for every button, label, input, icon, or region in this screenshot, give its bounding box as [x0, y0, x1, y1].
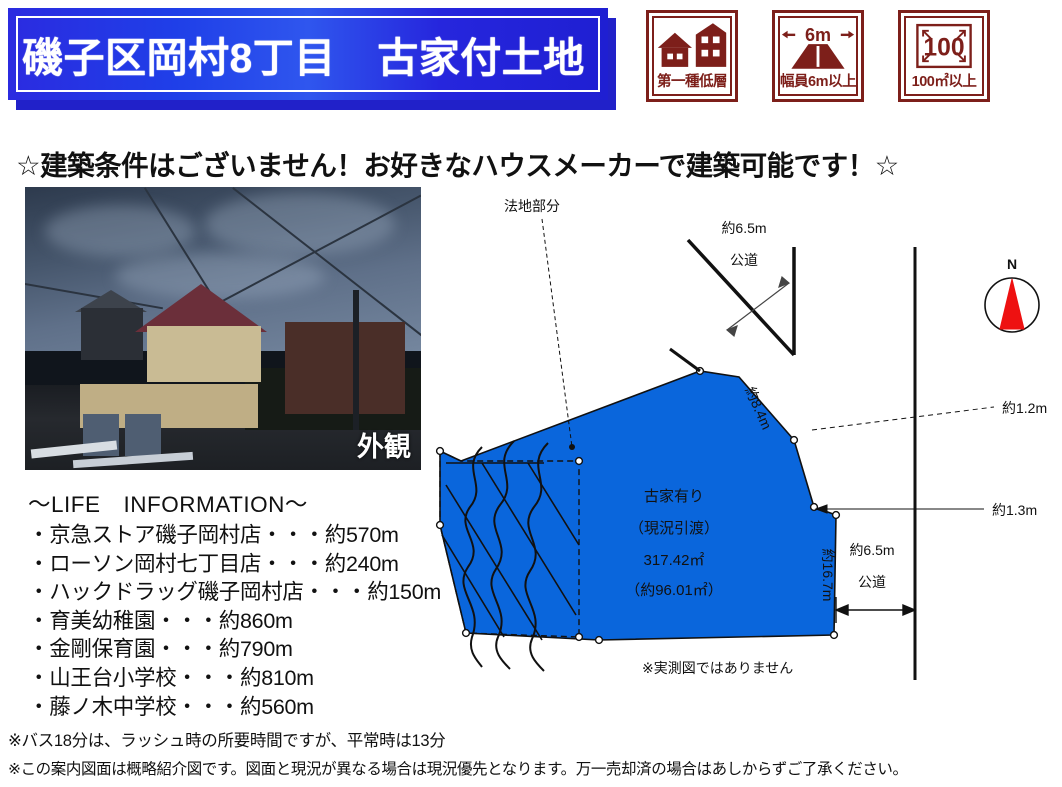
photo-building-right [285, 322, 405, 414]
area-frame-icon: 100 [906, 20, 982, 72]
footnote-disclaimer: ※この案内図面は概略紹介図です。図面と現況が異なる場合は現況優先となります。万一… [8, 757, 908, 779]
parcel-text-line: （現況引渡） [629, 520, 719, 537]
parcel-text-line: 古家有り [644, 488, 704, 505]
photo-utility-pole [353, 290, 359, 430]
badge-inner: 100 100㎡以上 [904, 16, 984, 96]
list-item: ・育美幼稚園・・・約860m [28, 607, 441, 636]
setback-lower-leader [816, 505, 984, 513]
parcel-right-edge-label: 約16.7m [820, 549, 836, 602]
exterior-photo: 外観 [25, 187, 421, 470]
badge-label: 第一種低層 [657, 75, 727, 90]
catch-copy: ☆建築条件はございません！お好きなハウスメーカーで建築可能です！☆ [16, 143, 899, 183]
top-road-kind-label: 公道 [730, 252, 758, 268]
footnote-bus-time: ※バス18分は、ラッシュ時の所要時間ですが、平常時は13分 [8, 727, 446, 751]
badge-label: 幅員6m以上 [780, 75, 856, 90]
boundary-stub [670, 349, 700, 371]
photo-house-main [147, 326, 261, 382]
badge-area-over-100: 100 100㎡以上 [898, 10, 990, 102]
compass-north-label: N [1007, 256, 1017, 272]
photo-house-left [81, 308, 143, 360]
right-setback-lower-label: 約1.3m [992, 502, 1037, 518]
badge-first-class-low-rise: 第一種低層 [646, 10, 738, 102]
right-setback-upper-label: 約1.2m [1002, 400, 1047, 416]
badge-label: 100㎡以上 [912, 75, 977, 90]
road-icon: 6m [780, 20, 856, 72]
site-plan-diagram: 法地部分 約6.5m 公道 約8.4m 約16.7m 約1.2m 約1.3m 約… [424, 185, 1062, 705]
list-item: ・金剛保育園・・・約790m [28, 635, 441, 664]
photo-caption: 外観 [357, 425, 411, 464]
badge-road-width: 6m 幅員6m以上 [772, 10, 864, 102]
slope-label: 法地部分 [504, 198, 560, 214]
list-item: ・藤ノ木中学校・・・約560m [28, 693, 441, 722]
list-item: ・ローソン岡村七丁目店・・・約240m [28, 550, 441, 579]
title-banner: 磯子区岡村8丁目 古家付土地 [8, 8, 608, 100]
list-item: ・山王台小学校・・・約810m [28, 664, 441, 693]
right-road-dimension-arrow [836, 597, 915, 623]
slope-leader-dot [569, 444, 575, 450]
compass-rose [985, 278, 1039, 332]
slope-leader-line [542, 219, 572, 447]
badge-inner: 第一種低層 [652, 16, 732, 96]
setback-upper-leader [812, 407, 994, 430]
houses-icon [654, 20, 730, 72]
life-information-title: 〜LIFE INFORMATION〜 [28, 487, 441, 519]
photo-garage-door [125, 414, 161, 456]
list-item: ・京急ストア磯子岡村店・・・約570m [28, 521, 441, 550]
right-road-kind-label: 公道 [858, 574, 886, 590]
site-plan-disclaimer: ※実測図ではありません [642, 660, 793, 676]
list-item: ・ハックドラッグ磯子岡村店・・・約150m [28, 578, 441, 607]
badge-inner: 6m 幅員6m以上 [778, 16, 858, 96]
svg-text:6m: 6m [805, 25, 831, 45]
right-road-width-label: 約6.5m [849, 542, 894, 558]
parcel-text-line: （約96.01㎡） [625, 582, 723, 599]
top-road-dimension-arrow [727, 277, 789, 336]
page-title: 磯子区岡村8丁目 古家付土地 [22, 24, 585, 84]
top-road-width-label: 約6.5m [721, 220, 766, 236]
life-information: 〜LIFE INFORMATION〜 ・京急ストア磯子岡村店・・・約570m ・… [28, 487, 441, 721]
parcel-text-line: 317.42㎡ [644, 552, 705, 569]
photo-house-roof [135, 284, 267, 332]
svg-text:100: 100 [923, 35, 964, 62]
